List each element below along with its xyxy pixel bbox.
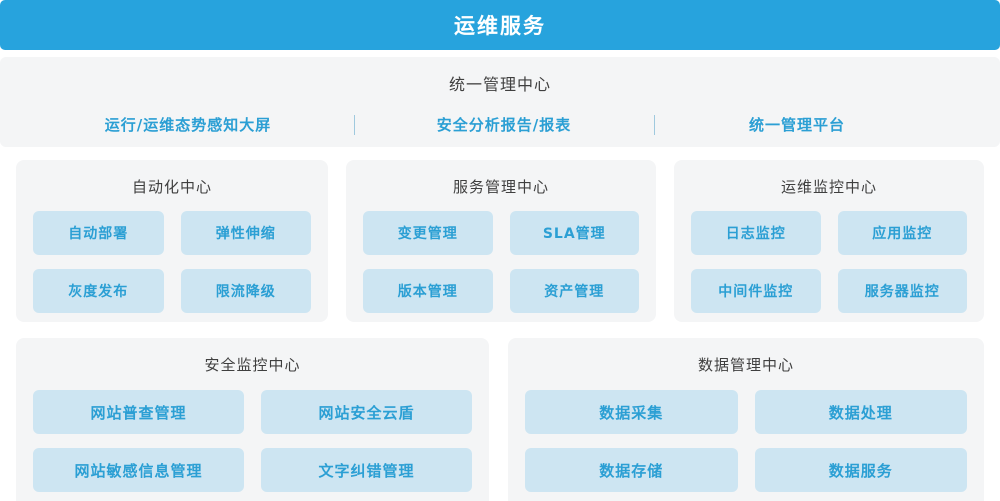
link-management-platform[interactable]: 统一管理平台: [749, 114, 845, 135]
tile-text-correction-management[interactable]: 文字纠错管理: [261, 448, 472, 492]
link-divider: [354, 115, 355, 135]
group-title: 自动化中心: [16, 176, 328, 197]
unified-management-center-panel: 统一管理中心 运行/运维态势感知大屏 安全分析报告/报表 统一管理平台: [0, 57, 1000, 147]
group-title: 运维监控中心: [674, 176, 984, 197]
tile-middleware-monitoring[interactable]: 中间件监控: [691, 269, 821, 313]
link-operations-dashboard[interactable]: 运行/运维态势感知大屏: [105, 114, 271, 135]
tile-grid: 变更管理 SLA管理 版本管理 资产管理: [346, 211, 656, 313]
diagram-root: 运维服务 统一管理中心 运行/运维态势感知大屏 安全分析报告/报表 统一管理平台…: [0, 0, 1000, 501]
tile-rate-limit-degrade[interactable]: 限流降级: [181, 269, 312, 313]
group-service-management-center: 服务管理中心 变更管理 SLA管理 版本管理 资产管理: [346, 160, 656, 322]
tile-data-collection[interactable]: 数据采集: [525, 390, 738, 434]
link-security-report[interactable]: 安全分析报告/报表: [437, 114, 571, 135]
header-bar: 运维服务: [0, 0, 1000, 50]
tile-grid: 自动部署 弹性伸缩 灰度发布 限流降级: [16, 211, 328, 313]
tile-data-service[interactable]: 数据服务: [755, 448, 968, 492]
tile-server-monitoring[interactable]: 服务器监控: [838, 269, 968, 313]
tile-data-processing[interactable]: 数据处理: [755, 390, 968, 434]
tile-data-storage[interactable]: 数据存储: [525, 448, 738, 492]
tile-change-management[interactable]: 变更管理: [363, 211, 493, 255]
tile-gray-release[interactable]: 灰度发布: [33, 269, 164, 313]
tile-application-monitoring[interactable]: 应用监控: [838, 211, 968, 255]
unified-management-center-links: 运行/运维态势感知大屏 安全分析报告/报表 统一管理平台: [0, 114, 1000, 136]
group-title: 安全监控中心: [16, 354, 489, 375]
tile-grid: 网站普查管理 网站安全云盾 网站敏感信息管理 文字纠错管理: [16, 390, 489, 492]
unified-management-center-title: 统一管理中心: [449, 71, 551, 95]
group-title: 服务管理中心: [346, 176, 656, 197]
tile-version-management[interactable]: 版本管理: [363, 269, 493, 313]
tile-website-census-management[interactable]: 网站普查管理: [33, 390, 244, 434]
group-security-monitoring-center: 安全监控中心 网站普查管理 网站安全云盾 网站敏感信息管理 文字纠错管理: [16, 338, 489, 501]
tile-sla-management[interactable]: SLA管理: [510, 211, 640, 255]
group-data-management-center: 数据管理中心 数据采集 数据处理 数据存储 数据服务: [508, 338, 984, 501]
tile-log-monitoring[interactable]: 日志监控: [691, 211, 821, 255]
group-title: 数据管理中心: [508, 354, 984, 375]
tile-website-security-cloud-shield[interactable]: 网站安全云盾: [261, 390, 472, 434]
link-divider: [654, 115, 655, 135]
group-automation-center: 自动化中心 自动部署 弹性伸缩 灰度发布 限流降级: [16, 160, 328, 322]
tile-grid: 日志监控 应用监控 中间件监控 服务器监控: [674, 211, 984, 313]
tile-auto-deploy[interactable]: 自动部署: [33, 211, 164, 255]
group-ops-monitoring-center: 运维监控中心 日志监控 应用监控 中间件监控 服务器监控: [674, 160, 984, 322]
tile-website-sensitive-info-management[interactable]: 网站敏感信息管理: [33, 448, 244, 492]
tile-grid: 数据采集 数据处理 数据存储 数据服务: [508, 390, 984, 492]
tile-elastic-scaling[interactable]: 弹性伸缩: [181, 211, 312, 255]
page-title: 运维服务: [454, 10, 546, 40]
tile-asset-management[interactable]: 资产管理: [510, 269, 640, 313]
